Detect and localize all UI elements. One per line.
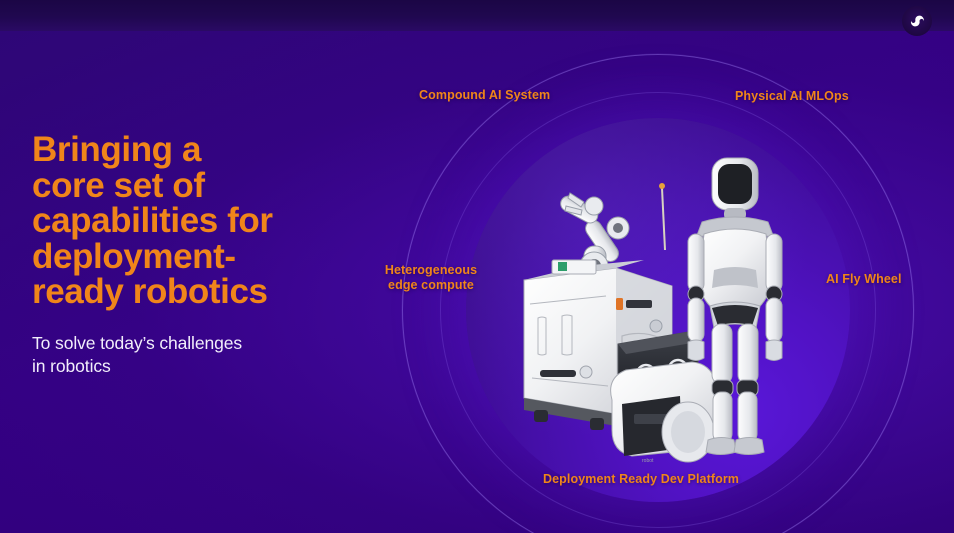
robot-illustration: robot xyxy=(466,118,850,502)
label-heterogeneous-edge-compute: Heterogeneous edge compute xyxy=(383,263,479,293)
label-deployment-ready-dev-platform: Deployment Ready Dev Platform xyxy=(543,472,739,487)
brand-swirl-logo[interactable] xyxy=(902,6,932,36)
page-subtitle: To solve today’s challenges in robotics xyxy=(32,332,362,378)
label-compound-ai-system: Compound AI System xyxy=(419,88,550,103)
copy-block: Bringing a core set of capabilities for … xyxy=(32,132,362,378)
top-band xyxy=(0,0,954,31)
page-title: Bringing a core set of capabilities for … xyxy=(32,132,362,310)
swirl-icon xyxy=(907,11,927,31)
svg-text:robot: robot xyxy=(642,458,654,464)
slide-canvas: Bringing a core set of capabilities for … xyxy=(0,0,954,533)
label-ai-fly-wheel: AI Fly Wheel xyxy=(826,272,902,287)
label-physical-ai-mlops: Physical AI MLOps xyxy=(735,89,849,104)
